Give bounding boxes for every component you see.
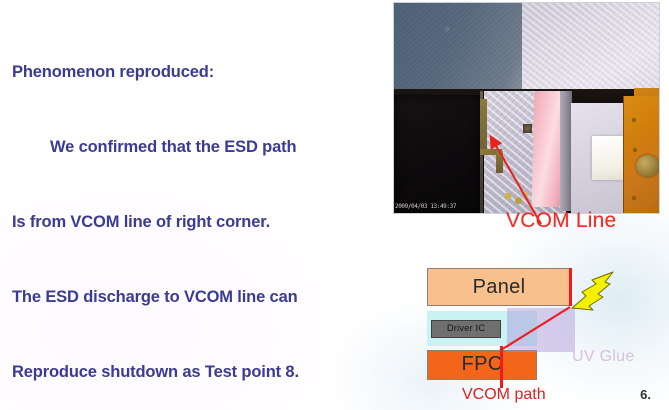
panel-label: Panel — [428, 269, 570, 305]
body-line-2: Is from VCOM line of right corner. — [12, 210, 394, 235]
vcom-path-label: VCOM path — [462, 386, 546, 404]
esd-failure-photo: 2009/04/03 13:49:37 — [393, 2, 660, 214]
photo-discharge-mark — [523, 124, 532, 133]
photo-vcom-trace-lower — [496, 151, 503, 173]
slide-canvas: Phenomenon reproduced: We confirmed that… — [0, 0, 669, 410]
vcom-trace-right-edge — [569, 268, 572, 306]
slide-body-text: Phenomenon reproduced: We confirmed that… — [12, 10, 394, 410]
photo-via-dot — [632, 118, 636, 122]
uv-glue-overlay — [507, 308, 575, 352]
photo-pink-tape — [531, 91, 562, 207]
photo-adhesive-residue — [502, 189, 532, 207]
driver-ic-label: Driver IC — [432, 321, 500, 336]
photo-vcom-trace-vertical — [480, 99, 487, 155]
photo-via-dot — [632, 196, 636, 200]
page-number: 6. — [640, 387, 651, 402]
vcom-trace-fpc — [500, 346, 503, 388]
fpc-block: FPC — [427, 350, 537, 380]
fpc-label: FPC — [428, 351, 536, 378]
uv-glue-label: UV Glue — [572, 348, 635, 366]
photo-white-pad — [592, 136, 624, 180]
heading-phenomenon: Phenomenon reproduced: — [12, 60, 394, 85]
photo-flex-circuit — [623, 96, 660, 214]
panel-block: Panel — [427, 268, 571, 306]
driver-ic-block: Driver IC — [431, 320, 501, 338]
photo-via-dot — [633, 148, 637, 152]
vcom-line-label: VCOM Line — [506, 209, 616, 233]
body-line-4: Reproduce shutdown as Test point 8. — [12, 360, 394, 385]
esd-lightning-bolt — [572, 272, 613, 310]
photo-glass-panel — [394, 95, 482, 214]
body-line-3: The ESD discharge to VCOM line can — [12, 285, 394, 310]
photo-timestamp: 2009/04/03 13:49:37 — [395, 202, 467, 211]
photo-solder-pad — [636, 155, 660, 177]
layer-stack-diagram: Panel Driver IC FPC UV Glue VCOM path — [400, 258, 669, 410]
body-line-1: We confirmed that the ESD path — [12, 135, 394, 160]
